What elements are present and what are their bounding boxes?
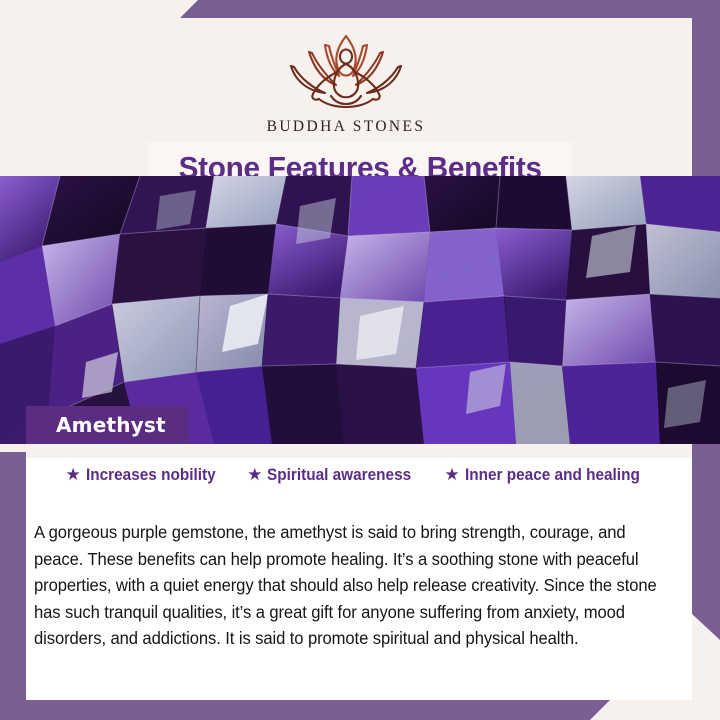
frame-band-left: [0, 452, 26, 700]
frame-band-top: [180, 0, 720, 18]
benefit-label: Increases nobility: [86, 466, 216, 485]
brand-logo: BUDDHA STONES: [0, 28, 692, 136]
benefit-label: Inner peace and healing: [465, 466, 640, 485]
benefit-item: ★ Spiritual awareness: [247, 466, 422, 485]
card-top-tint: [26, 444, 692, 458]
poster-header: BUDDHA STONES Stone Features & Benefits: [0, 18, 692, 176]
star-icon: ★: [247, 466, 262, 483]
benefit-item: ★ Inner peace and healing: [444, 466, 652, 485]
amethyst-hero-image: [0, 176, 720, 444]
stone-features-poster: BUDDHA STONES Stone Features & Benefits: [0, 0, 720, 720]
lotus-meditation-icon: [273, 28, 419, 116]
brand-name: BUDDHA STONES: [0, 118, 692, 136]
stone-description: A gorgeous purple gemstone, the amethyst…: [34, 519, 662, 652]
benefit-label: Spiritual awareness: [267, 466, 411, 485]
frame-band-bottom: [0, 700, 610, 720]
amethyst-crystal-illustration: [0, 176, 720, 444]
content-card: ★ Increases nobility ★ Spiritual awarene…: [26, 444, 692, 700]
star-icon: ★: [444, 466, 459, 483]
stone-name-tab: Amethyst: [26, 406, 188, 444]
benefit-item: ★ Increases nobility: [65, 466, 225, 485]
stone-name-label: Amethyst: [26, 413, 188, 437]
benefits-list: ★ Increases nobility ★ Spiritual awarene…: [26, 466, 692, 485]
star-icon: ★: [65, 466, 80, 483]
